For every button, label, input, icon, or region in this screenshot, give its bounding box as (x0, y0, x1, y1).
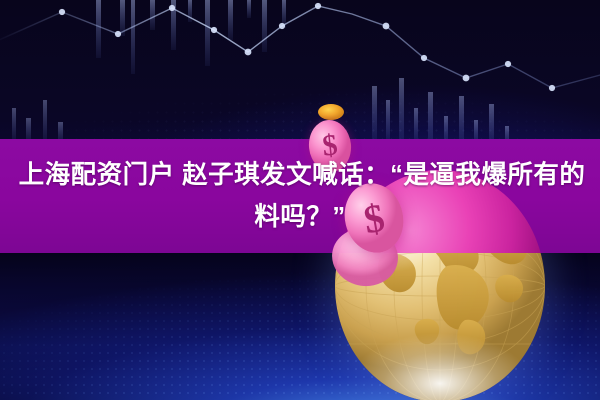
headline-line-1: 上海配资门户 赵子琪发文喊话：“是逼我爆所有的 (15, 155, 586, 195)
headline-line-2: 料吗？” (254, 197, 345, 237)
news-banner-image: $ $ 上海配资门户 赵子琪发文喊话：“是逼我爆所有的 料吗？” (0, 0, 600, 400)
coin-cap (318, 104, 344, 120)
headline-text-block: 上海配资门户 赵子琪发文喊话：“是逼我爆所有的 料吗？” (0, 139, 600, 253)
